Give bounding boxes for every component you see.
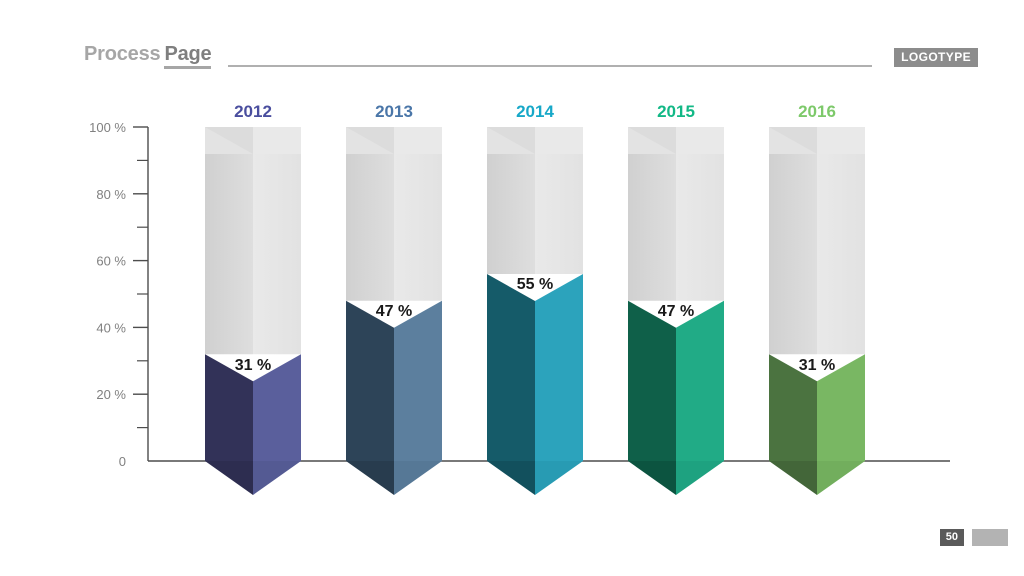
bar-group-2013[interactable]: 47 % 2013	[346, 102, 442, 495]
page-title-word-accent: Page	[164, 43, 211, 69]
bar-2015-empty-right-face	[676, 154, 724, 301]
bar-2012-value-label: 31 %	[235, 357, 271, 374]
bar-2012-year-label: 2012	[234, 102, 272, 121]
bar-2016-value-label: 31 %	[799, 357, 835, 374]
footer-accent-bar	[972, 529, 1008, 546]
page-title-word-primary: Process	[84, 43, 160, 65]
bar-group-2012[interactable]: 31 % 2012	[205, 102, 301, 495]
bar-2014-value-label: 55 %	[517, 276, 553, 293]
bar-2012-base-left-point	[205, 461, 253, 495]
bar-2013-empty-top-right	[394, 127, 442, 154]
logotype-badge: LOGOTYPE	[894, 48, 978, 67]
bar-2012-base-right-point	[253, 461, 301, 495]
bar-2014-empty-right-face	[535, 154, 583, 274]
page-number-badge: 50	[940, 529, 964, 546]
y-tick-label-20: 20 %	[96, 387, 126, 402]
bar-2013-base-left-point	[346, 461, 394, 495]
bar-2015-value-label: 47 %	[658, 303, 694, 320]
chart-svg-canvas: 100 % 80 % 60 % 40 % 20 % 0	[0, 90, 1024, 510]
slide-canvas: ProcessPage LOGOTYPE	[0, 0, 1024, 576]
bar-group-2016[interactable]: 31 % 2016	[769, 102, 865, 495]
bar-2014-fill-left-face	[487, 274, 535, 461]
y-tick-label-80: 80 %	[96, 187, 126, 202]
bar-group-2014[interactable]: 55 % 2014	[487, 102, 583, 495]
bar-2014-base-left-point	[487, 461, 535, 495]
bar-2013-fill-left-face	[346, 301, 394, 461]
bar-2012-empty-left-face	[205, 154, 253, 354]
bar-2014-empty-left-face	[487, 154, 535, 274]
y-tick-label-60: 60 %	[96, 254, 126, 269]
bar-2013-year-label: 2013	[375, 102, 413, 121]
bar-2014-empty-top-right	[535, 127, 583, 154]
bar-2015-empty-left-face	[628, 154, 676, 301]
bar-2015-base-left-point	[628, 461, 676, 495]
bar-2016-base-right-point	[817, 461, 865, 495]
bar-2012-empty-right-face	[253, 154, 301, 354]
bar-2016-empty-left-face	[769, 154, 817, 354]
header-divider-line	[228, 65, 872, 67]
page-title: ProcessPage	[84, 43, 211, 66]
bar-2015-fill-left-face	[628, 301, 676, 461]
y-tick-label-0: 0	[119, 454, 126, 469]
bar-2016-base-left-point	[769, 461, 817, 495]
bar-2015-base-right-point	[676, 461, 724, 495]
bar-2013-fill-right-face	[394, 301, 442, 461]
bar-group-2015[interactable]: 47 % 2015	[628, 102, 724, 495]
bar-2015-empty-top-right	[676, 127, 724, 154]
bar-2016-year-label: 2016	[798, 102, 836, 121]
bar-2013-empty-left-face	[346, 154, 394, 301]
bar-2016-empty-top-right	[817, 127, 865, 154]
bar-2016-empty-right-face	[817, 154, 865, 354]
bar-2013-empty-right-face	[394, 154, 442, 301]
bar-2015-fill-right-face	[676, 301, 724, 461]
bar-chart: 100 % 80 % 60 % 40 % 20 % 0	[0, 90, 1024, 510]
slide-footer: 50	[0, 516, 1024, 576]
bar-2012-empty-top-right	[253, 127, 301, 154]
y-tick-label-100: 100 %	[89, 120, 126, 135]
bar-2013-base-right-point	[394, 461, 442, 495]
bar-2013-value-label: 47 %	[376, 303, 412, 320]
bar-2015-year-label: 2015	[657, 102, 695, 121]
slide-header: ProcessPage LOGOTYPE	[0, 0, 1024, 90]
bar-2014-fill-right-face	[535, 274, 583, 461]
bar-2014-year-label: 2014	[516, 102, 554, 121]
y-tick-label-40: 40 %	[96, 320, 126, 335]
bar-2014-base-right-point	[535, 461, 583, 495]
